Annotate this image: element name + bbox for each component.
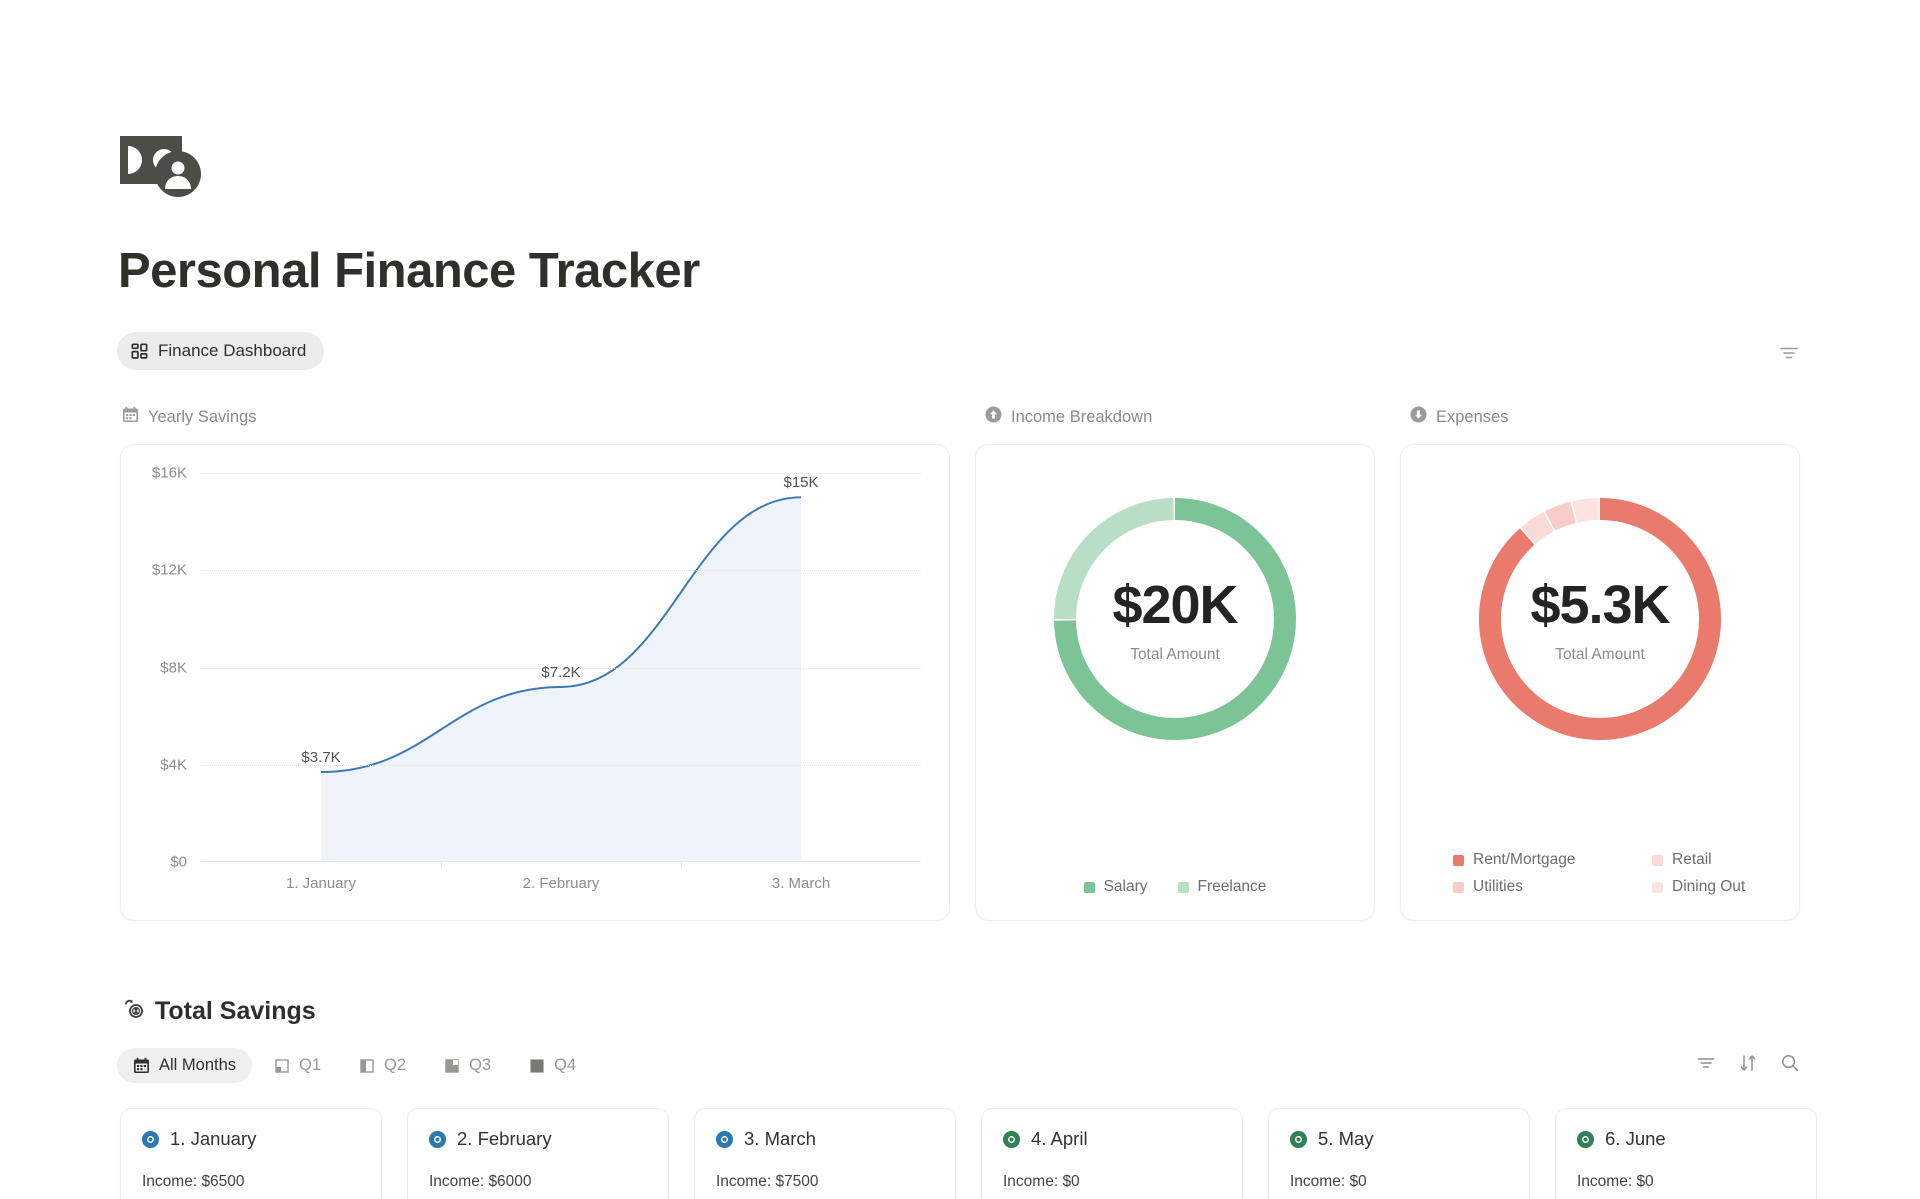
month-card-header: 2. February <box>429 1128 647 1150</box>
status-donut-icon <box>1290 1131 1307 1148</box>
tab-label: Q3 <box>469 1056 491 1075</box>
grid-layout-icon <box>131 343 148 360</box>
month-card-header: 6. June <box>1577 1128 1795 1150</box>
income-breakdown-label: Income Breakdown <box>985 406 1152 428</box>
month-income: Income: $0 <box>1290 1173 1508 1191</box>
calendar-icon <box>122 406 139 428</box>
expenses-legend: Rent/MortgageRetailUtilitiesDining Out <box>1401 851 1799 896</box>
month-filter-tabs: All MonthsQ1Q2Q3Q4 <box>117 1048 592 1083</box>
square-quarter-1-icon <box>274 1058 290 1074</box>
donut-segment <box>1550 512 1573 521</box>
yearly-savings-chart-card: $0$4K$8K$12K$16K1. January2. February3. … <box>120 444 950 921</box>
month-card-list: 1. JanuaryIncome: $65002. FebruaryIncome… <box>120 1108 1817 1199</box>
search-icon[interactable] <box>1780 1053 1800 1073</box>
donut-segment <box>1065 509 1173 619</box>
money-person-icon <box>120 132 220 204</box>
y-axis-tick: $8K <box>160 659 187 676</box>
x-axis-tick: 2. February <box>523 875 600 892</box>
x-axis-tickmark <box>441 862 442 868</box>
legend-swatch <box>1178 882 1189 893</box>
square-quarter-3-icon <box>444 1058 460 1074</box>
legend-swatch <box>1453 855 1464 866</box>
month-name: 4. April <box>1031 1128 1088 1150</box>
month-card[interactable]: 5. MayIncome: $0 <box>1268 1108 1530 1199</box>
calendar-icon <box>133 1057 150 1074</box>
legend-swatch <box>1652 855 1663 866</box>
card-label-text: Yearly Savings <box>148 408 257 427</box>
arrow-up-circle-icon <box>985 406 1002 428</box>
legend-label: Utilities <box>1473 878 1523 896</box>
data-point-label: $15K <box>783 474 818 491</box>
tab-label: Q1 <box>299 1056 321 1075</box>
legend-swatch <box>1453 882 1464 893</box>
month-name: 6. June <box>1605 1128 1666 1150</box>
month-card[interactable]: 3. MarchIncome: $7500 <box>694 1108 956 1199</box>
tab-all-months[interactable]: All Months <box>117 1048 252 1083</box>
month-income: Income: $6500 <box>142 1173 360 1191</box>
page-title: Personal Finance Tracker <box>118 243 700 299</box>
sort-icon[interactable] <box>1738 1053 1758 1073</box>
month-card[interactable]: 2. FebruaryIncome: $6000 <box>407 1108 669 1199</box>
status-donut-icon <box>142 1131 159 1148</box>
chart-plot-area: $0$4K$8K$12K$16K1. January2. February3. … <box>201 473 921 862</box>
month-name: 2. February <box>457 1128 552 1150</box>
x-axis-tickmark <box>681 862 682 868</box>
month-income: Income: $0 <box>1003 1173 1221 1191</box>
month-income: Income: $0 <box>1577 1173 1795 1191</box>
card-label-text: Expenses <box>1436 408 1508 427</box>
filter-icon[interactable] <box>1778 342 1800 364</box>
legend-label: Rent/Mortgage <box>1473 851 1576 869</box>
tab-label: Q4 <box>554 1056 576 1075</box>
expenses-donut-chart <box>1474 493 1726 745</box>
legend-item[interactable]: Rent/Mortgage <box>1401 851 1600 869</box>
y-axis-tick: $0 <box>170 854 187 871</box>
y-axis-tick: $12K <box>152 562 187 579</box>
donut-segment <box>1490 509 1710 729</box>
legend-label: Dining Out <box>1672 878 1745 896</box>
tab-q4[interactable]: Q4 <box>513 1048 592 1083</box>
tab-label: Q2 <box>384 1056 406 1075</box>
square-quarter-4-icon <box>529 1058 545 1074</box>
legend-item[interactable]: Dining Out <box>1600 878 1799 896</box>
status-donut-icon <box>1577 1131 1594 1148</box>
tab-q3[interactable]: Q3 <box>428 1048 507 1083</box>
expenses-label: Expenses <box>1410 406 1508 428</box>
expenses-card: $5.3K Total Amount Rent/MortgageRetailUt… <box>1400 444 1800 921</box>
filter-icon[interactable] <box>1696 1053 1716 1073</box>
month-name: 5. May <box>1318 1128 1374 1150</box>
month-card-header: 1. January <box>142 1128 360 1150</box>
month-name: 3. March <box>744 1128 816 1150</box>
square-quarter-2-icon <box>359 1058 375 1074</box>
x-axis-tick: 1. January <box>286 875 356 892</box>
month-card-header: 3. March <box>716 1128 934 1150</box>
legend-swatch <box>1084 882 1095 893</box>
month-income: Income: $7500 <box>716 1173 934 1191</box>
total-savings-heading: Total Savings <box>122 997 316 1026</box>
legend-label: Freelance <box>1198 878 1267 896</box>
status-donut-icon <box>716 1131 733 1148</box>
legend-item[interactable]: Retail <box>1600 851 1799 869</box>
legend-label: Retail <box>1672 851 1712 869</box>
tab-label: All Months <box>159 1056 236 1075</box>
month-card-header: 5. May <box>1290 1128 1508 1150</box>
yearly-savings-label: Yearly Savings <box>122 406 257 428</box>
data-point-label: $3.7K <box>301 749 340 766</box>
data-point-label: $7.2K <box>541 664 580 681</box>
badge-label: Finance Dashboard <box>158 341 306 361</box>
tab-q1[interactable]: Q1 <box>258 1048 337 1083</box>
month-income: Income: $6000 <box>429 1173 647 1191</box>
income-donut: $20K Total Amount <box>976 493 1374 745</box>
month-card[interactable]: 4. AprilIncome: $0 <box>981 1108 1243 1199</box>
x-axis-tick: 3. March <box>772 875 830 892</box>
status-donut-icon <box>1003 1131 1020 1148</box>
month-name: 1. January <box>170 1128 256 1150</box>
legend-item[interactable]: Utilities <box>1401 878 1600 896</box>
income-legend: SalaryFreelance <box>976 878 1374 896</box>
donut-segment <box>1528 522 1548 536</box>
legend-item[interactable]: Freelance <box>1178 878 1267 896</box>
status-donut-icon <box>429 1131 446 1148</box>
finance-dashboard-badge[interactable]: Finance Dashboard <box>117 332 324 370</box>
page-root: Personal Finance Tracker Finance Dashboa… <box>0 0 1920 1199</box>
x-axis-line <box>201 861 921 862</box>
income-breakdown-card: $20K Total Amount SalaryFreelance <box>975 444 1375 921</box>
month-card[interactable]: 6. JuneIncome: $0 <box>1555 1108 1817 1199</box>
coins-exchange-icon <box>122 997 144 1026</box>
arrow-down-circle-icon <box>1410 406 1427 428</box>
y-axis-tick: $16K <box>152 465 187 482</box>
month-card-header: 4. April <box>1003 1128 1221 1150</box>
month-card[interactable]: 1. JanuaryIncome: $6500 <box>120 1108 382 1199</box>
legend-swatch <box>1652 882 1663 893</box>
y-axis-tick: $4K <box>160 756 187 773</box>
table-tools <box>1696 1053 1800 1073</box>
section-title-text: Total Savings <box>155 997 316 1026</box>
legend-label: Salary <box>1104 878 1148 896</box>
tab-q2[interactable]: Q2 <box>343 1048 422 1083</box>
donut-segment <box>1575 509 1599 512</box>
legend-item[interactable]: Salary <box>1084 878 1148 896</box>
card-label-text: Income Breakdown <box>1011 408 1152 427</box>
income-donut-chart <box>1049 493 1301 745</box>
gridline <box>201 570 921 571</box>
expenses-donut: $5.3K Total Amount <box>1401 493 1799 745</box>
